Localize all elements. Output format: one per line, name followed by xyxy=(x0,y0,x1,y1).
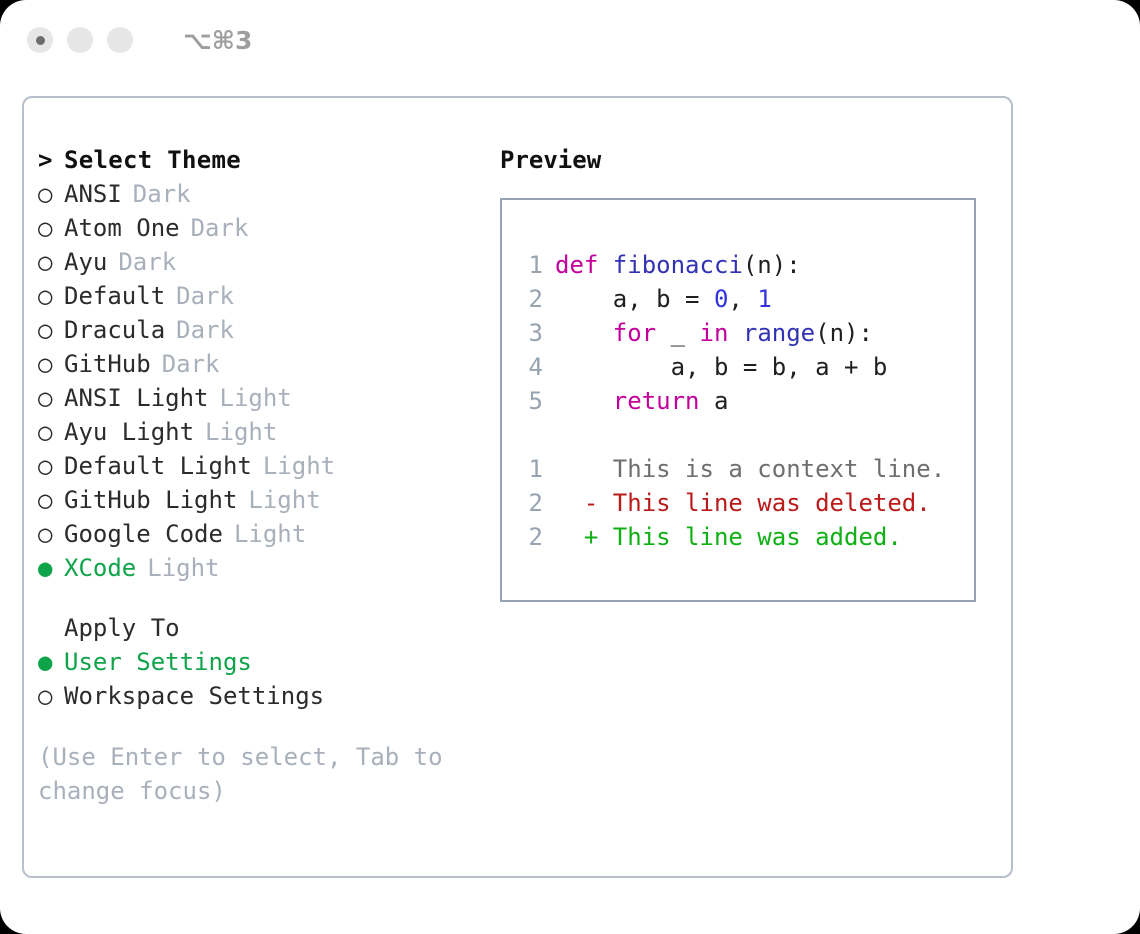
code-token: return xyxy=(613,387,700,415)
keyboard-hint: (Use Enter to select, Tab to change focu… xyxy=(38,740,448,808)
theme-kind-badge: Dark xyxy=(191,214,249,242)
theme-name: Ayu Light xyxy=(64,418,194,446)
theme-kind-badge: Light xyxy=(220,384,292,412)
theme-name: Ayu xyxy=(64,248,107,276)
code-line-number: 4 xyxy=(517,350,543,384)
code-token: 1 xyxy=(757,285,771,313)
code-token: (n): xyxy=(815,319,873,347)
diff-line: 2 - This line was deleted. xyxy=(517,486,945,520)
preview-box: 1def fibonacci(n):2 a, b = 0, 13 for _ i… xyxy=(500,198,976,602)
hint-spacer xyxy=(38,716,498,734)
code-line-number: 1 xyxy=(517,248,543,282)
code-token: for xyxy=(613,319,656,347)
code-token: _ xyxy=(656,319,699,347)
code-token: a, b = xyxy=(555,285,714,313)
apply-to-header: Apply To xyxy=(38,614,498,648)
code-line: 3 for _ in range(n): xyxy=(517,316,945,350)
apply-to-label: Apply To xyxy=(38,614,180,642)
radio-selected-icon: ● xyxy=(38,554,64,582)
radio-unselected-icon: ○ xyxy=(38,682,64,710)
code-line: 4 a, b = b, a + b xyxy=(517,350,945,384)
theme-list-item[interactable]: ○AyuDark xyxy=(38,248,498,282)
main-panel: >Select Theme ○ANSIDark○Atom OneDark○Ayu… xyxy=(22,96,1013,878)
theme-kind-badge: Light xyxy=(147,554,219,582)
code-line: 1def fibonacci(n): xyxy=(517,248,945,282)
radio-unselected-icon: ○ xyxy=(38,214,64,242)
code-token: in xyxy=(700,319,729,347)
code-token: , xyxy=(728,285,757,313)
section-spacer xyxy=(38,588,498,614)
theme-name: Default xyxy=(64,282,165,310)
radio-unselected-icon: ○ xyxy=(38,418,64,446)
theme-list-item[interactable]: ○GitHub LightLight xyxy=(38,486,498,520)
theme-kind-badge: Light xyxy=(248,486,320,514)
code-token: a xyxy=(700,387,729,415)
apply-to-option[interactable]: ○Workspace Settings xyxy=(38,682,498,716)
diff-line: 2 + This line was added. xyxy=(517,520,945,554)
theme-list-item[interactable]: ○DraculaDark xyxy=(38,316,498,350)
apply-to-options: ●User Settings○Workspace Settings xyxy=(38,648,498,716)
theme-name: ANSI Light xyxy=(64,384,209,412)
theme-kind-badge: Light xyxy=(205,418,277,446)
code-token: def xyxy=(555,251,613,279)
theme-list-item[interactable]: ○DefaultDark xyxy=(38,282,498,316)
traffic-light-third[interactable] xyxy=(107,27,133,53)
window-shortcut-label: ⌥⌘3 xyxy=(183,26,252,55)
code-token: range xyxy=(743,319,815,347)
theme-name: XCode xyxy=(64,554,136,582)
code-line: 2 a, b = 0, 1 xyxy=(517,282,945,316)
title-bar: ⌥⌘3 xyxy=(0,0,1140,80)
theme-list-item[interactable]: ○Atom OneDark xyxy=(38,214,498,248)
code-diff-separator xyxy=(517,418,945,452)
radio-unselected-icon: ○ xyxy=(38,180,64,208)
theme-name: GitHub xyxy=(64,350,151,378)
code-token: 0 xyxy=(714,285,728,313)
theme-name: Default Light xyxy=(64,452,252,480)
radio-unselected-icon: ○ xyxy=(38,384,64,412)
theme-name: Dracula xyxy=(64,316,165,344)
diff-text: This is a context line. xyxy=(598,455,945,483)
app-window: ⌥⌘3 >Select Theme ○ANSIDark○Atom OneDark… xyxy=(0,0,1140,934)
code-token: fibonacci xyxy=(613,251,743,279)
preview-title: Preview xyxy=(500,146,1000,186)
traffic-light-second[interactable] xyxy=(67,27,93,53)
radio-unselected-icon: ○ xyxy=(38,350,64,378)
radio-unselected-icon: ○ xyxy=(38,316,64,344)
diff-line-number: 1 xyxy=(517,452,543,486)
theme-kind-badge: Light xyxy=(234,520,306,548)
theme-selector-column: >Select Theme ○ANSIDark○Atom OneDark○Ayu… xyxy=(38,146,498,808)
theme-kind-badge: Dark xyxy=(176,316,234,344)
apply-to-option-label: Workspace Settings xyxy=(64,682,324,710)
theme-kind-badge: Dark xyxy=(162,350,220,378)
diff-line: 1 This is a context line. xyxy=(517,452,945,486)
diff-text: This line was deleted. xyxy=(598,489,930,517)
select-theme-title: Select Theme xyxy=(64,146,241,174)
diff-marker xyxy=(555,455,598,483)
diff-text: This line was added. xyxy=(598,523,901,551)
code-token: (n): xyxy=(743,251,801,279)
apply-to-option-label: User Settings xyxy=(64,648,252,676)
code-preview: 1def fibonacci(n):2 a, b = 0, 13 for _ i… xyxy=(517,248,945,554)
theme-name: ANSI xyxy=(64,180,122,208)
theme-list-item[interactable]: ○ANSI LightLight xyxy=(38,384,498,418)
theme-list-item[interactable]: ○GitHubDark xyxy=(38,350,498,384)
theme-kind-badge: Dark xyxy=(118,248,176,276)
theme-name: Google Code xyxy=(64,520,223,548)
theme-name: Atom One xyxy=(64,214,180,242)
radio-unselected-icon: ○ xyxy=(38,248,64,276)
diff-marker: - xyxy=(555,489,598,517)
radio-unselected-icon: ○ xyxy=(38,520,64,548)
theme-name: GitHub Light xyxy=(64,486,237,514)
theme-list-item[interactable]: ○Google CodeLight xyxy=(38,520,498,554)
theme-list-item[interactable]: ●XCodeLight xyxy=(38,554,498,588)
code-line-number: 2 xyxy=(517,282,543,316)
radio-unselected-icon: ○ xyxy=(38,452,64,480)
preview-column: Preview 1def fibonacci(n):2 a, b = 0, 13… xyxy=(500,146,1000,602)
diff-line-number: 2 xyxy=(517,520,543,554)
code-line-number: 5 xyxy=(517,384,543,418)
radio-unselected-icon: ○ xyxy=(38,282,64,310)
radio-unselected-icon: ○ xyxy=(38,486,64,514)
theme-kind-badge: Dark xyxy=(176,282,234,310)
prompt-caret-icon: > xyxy=(38,146,64,174)
code-line-number: 3 xyxy=(517,316,543,350)
theme-kind-badge: Dark xyxy=(133,180,191,208)
apply-to-option[interactable]: ●User Settings xyxy=(38,648,498,682)
select-theme-header: >Select Theme xyxy=(38,146,498,180)
code-token xyxy=(555,387,613,415)
radio-selected-icon: ● xyxy=(38,648,64,676)
theme-list: ○ANSIDark○Atom OneDark○AyuDark○DefaultDa… xyxy=(38,180,498,588)
code-token: a, b = b, a + b xyxy=(555,353,887,381)
theme-list-item[interactable]: ○Default LightLight xyxy=(38,452,498,486)
traffic-light-active-dot xyxy=(36,36,45,45)
traffic-light-active[interactable] xyxy=(27,27,53,53)
theme-list-item[interactable]: ○ANSIDark xyxy=(38,180,498,214)
code-token xyxy=(555,319,613,347)
code-line: 5 return a xyxy=(517,384,945,418)
theme-kind-badge: Light xyxy=(263,452,335,480)
theme-list-item[interactable]: ○Ayu LightLight xyxy=(38,418,498,452)
diff-marker: + xyxy=(555,523,598,551)
code-token xyxy=(728,319,742,347)
diff-line-number: 2 xyxy=(517,486,543,520)
